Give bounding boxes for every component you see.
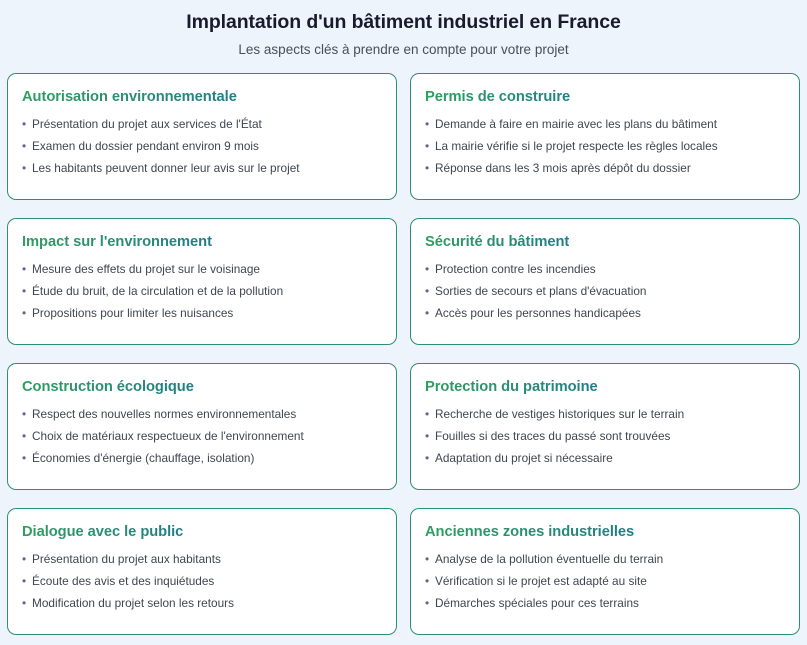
list-item-label: Respect des nouvelles normes environneme… <box>32 407 296 421</box>
card-bullet-list: •Présentation du projet aux services de … <box>22 117 382 175</box>
card-anciennes-zones-industrielles: Anciennes zones industrielles •Analyse d… <box>410 508 800 635</box>
card-title: Autorisation environnementale <box>22 88 237 106</box>
list-item-label: Fouilles si des traces du passé sont tro… <box>435 429 670 443</box>
list-item-label: Étude du bruit, de la circulation et de … <box>32 284 283 298</box>
bullet-icon: • <box>425 407 429 421</box>
list-item: •Choix de matériaux respectueux de l'env… <box>22 429 382 443</box>
list-item: •Respect des nouvelles normes environnem… <box>22 407 382 421</box>
bullet-icon: • <box>22 552 26 566</box>
bullet-icon: • <box>22 139 26 153</box>
list-item-label: Économies d'énergie (chauffage, isolatio… <box>32 451 254 465</box>
card-impact-sur-lenvironnement: Impact sur l'environnement •Mesure des e… <box>7 218 397 345</box>
list-item-label: Examen du dossier pendant environ 9 mois <box>32 139 259 153</box>
bullet-icon: • <box>425 262 429 276</box>
card-protection-du-patrimoine: Protection du patrimoine •Recherche de v… <box>410 363 800 490</box>
bullet-icon: • <box>22 407 26 421</box>
list-item: •La mairie vérifie si le projet respecte… <box>425 139 785 153</box>
list-item-label: Adaptation du projet si nécessaire <box>435 451 613 465</box>
bullet-icon: • <box>425 574 429 588</box>
bullet-icon: • <box>22 596 26 610</box>
list-item-label: Vérification si le projet est adapté au … <box>435 574 647 588</box>
card-title: Impact sur l'environnement <box>22 233 212 251</box>
card-construction-ecologique: Construction écologique •Respect des nou… <box>7 363 397 490</box>
list-item-label: Choix de matériaux respectueux de l'envi… <box>32 429 304 443</box>
bullet-icon: • <box>22 306 26 320</box>
list-item: •Vérification si le projet est adapté au… <box>425 574 785 588</box>
list-item-label: Modification du projet selon les retours <box>32 596 234 610</box>
bullet-icon: • <box>22 429 26 443</box>
list-item: •Présentation du projet aux services de … <box>22 117 382 131</box>
list-item-label: Écoute des avis et des inquiétudes <box>32 574 214 588</box>
card-bullet-list: •Respect des nouvelles normes environnem… <box>22 407 382 465</box>
card-bullet-list: •Présentation du projet aux habitants •É… <box>22 552 382 610</box>
list-item: •Présentation du projet aux habitants <box>22 552 382 566</box>
bullet-icon: • <box>425 596 429 610</box>
card-autorisation-environnementale: Autorisation environnementale •Présentat… <box>7 73 397 200</box>
bullet-icon: • <box>22 161 26 175</box>
list-item: •Demande à faire en mairie avec les plan… <box>425 117 785 131</box>
list-item: •Étude du bruit, de la circulation et de… <box>22 284 382 298</box>
bullet-icon: • <box>425 117 429 131</box>
bullet-icon: • <box>22 262 26 276</box>
list-item: •Protection contre les incendies <box>425 262 785 276</box>
list-item: •Analyse de la pollution éventuelle du t… <box>425 552 785 566</box>
card-bullet-list: •Demande à faire en mairie avec les plan… <box>425 117 785 175</box>
bullet-icon: • <box>425 306 429 320</box>
card-dialogue-avec-le-public: Dialogue avec le public •Présentation du… <box>7 508 397 635</box>
bullet-icon: • <box>22 574 26 588</box>
list-item-label: Présentation du projet aux habitants <box>32 552 221 566</box>
list-item-label: Recherche de vestiges historiques sur le… <box>435 407 684 421</box>
list-item: •Écoute des avis et des inquiétudes <box>22 574 382 588</box>
list-item: •Fouilles si des traces du passé sont tr… <box>425 429 785 443</box>
bullet-icon: • <box>425 451 429 465</box>
list-item: •Les habitants peuvent donner leur avis … <box>22 161 382 175</box>
list-item: •Démarches spéciales pour ces terrains <box>425 596 785 610</box>
page-title: Implantation d'un bâtiment industriel en… <box>0 9 807 35</box>
card-bullet-list: •Recherche de vestiges historiques sur l… <box>425 407 785 465</box>
card-title: Permis de construire <box>425 88 570 106</box>
list-item: •Adaptation du projet si nécessaire <box>425 451 785 465</box>
card-title: Anciennes zones industrielles <box>425 523 634 541</box>
card-title: Protection du patrimoine <box>425 378 598 396</box>
list-item-label: Les habitants peuvent donner leur avis s… <box>32 161 300 175</box>
bullet-icon: • <box>425 429 429 443</box>
list-item-label: Sorties de secours et plans d'évacuation <box>435 284 646 298</box>
card-bullet-list: •Analyse de la pollution éventuelle du t… <box>425 552 785 610</box>
card-grid: Autorisation environnementale •Présentat… <box>0 73 807 635</box>
list-item-label: Présentation du projet aux services de l… <box>32 117 262 131</box>
bullet-icon: • <box>22 284 26 298</box>
list-item: •Sorties de secours et plans d'évacuatio… <box>425 284 785 298</box>
card-title: Dialogue avec le public <box>22 523 183 541</box>
list-item-label: Accès pour les personnes handicapées <box>435 306 641 320</box>
card-title: Sécurité du bâtiment <box>425 233 569 251</box>
infographic-page: Implantation d'un bâtiment industriel en… <box>0 0 807 645</box>
list-item-label: Mesure des effets du projet sur le voisi… <box>32 262 260 276</box>
list-item: •Mesure des effets du projet sur le vois… <box>22 262 382 276</box>
list-item-label: Analyse de la pollution éventuelle du te… <box>435 552 663 566</box>
page-subtitle: Les aspects clés à prendre en compte pou… <box>0 41 807 59</box>
list-item-label: La mairie vérifie si le projet respecte … <box>435 139 718 153</box>
bullet-icon: • <box>425 139 429 153</box>
card-bullet-list: •Mesure des effets du projet sur le vois… <box>22 262 382 320</box>
list-item: •Accès pour les personnes handicapées <box>425 306 785 320</box>
list-item-label: Démarches spéciales pour ces terrains <box>435 596 639 610</box>
list-item-label: Demande à faire en mairie avec les plans… <box>435 117 717 131</box>
card-securite-du-batiment: Sécurité du bâtiment •Protection contre … <box>410 218 800 345</box>
list-item: •Réponse dans les 3 mois après dépôt du … <box>425 161 785 175</box>
list-item: •Modification du projet selon les retour… <box>22 596 382 610</box>
list-item-label: Propositions pour limiter les nuisances <box>32 306 233 320</box>
list-item-label: Réponse dans les 3 mois après dépôt du d… <box>435 161 691 175</box>
card-permis-de-construire: Permis de construire •Demande à faire en… <box>410 73 800 200</box>
list-item: •Recherche de vestiges historiques sur l… <box>425 407 785 421</box>
bullet-icon: • <box>425 161 429 175</box>
list-item: •Propositions pour limiter les nuisances <box>22 306 382 320</box>
list-item: •Examen du dossier pendant environ 9 moi… <box>22 139 382 153</box>
page-header: Implantation d'un bâtiment industriel en… <box>0 0 807 59</box>
list-item-label: Protection contre les incendies <box>435 262 596 276</box>
bullet-icon: • <box>425 552 429 566</box>
list-item: •Économies d'énergie (chauffage, isolati… <box>22 451 382 465</box>
card-bullet-list: •Protection contre les incendies •Sortie… <box>425 262 785 320</box>
bullet-icon: • <box>22 451 26 465</box>
bullet-icon: • <box>425 284 429 298</box>
card-title: Construction écologique <box>22 378 194 396</box>
bullet-icon: • <box>22 117 26 131</box>
